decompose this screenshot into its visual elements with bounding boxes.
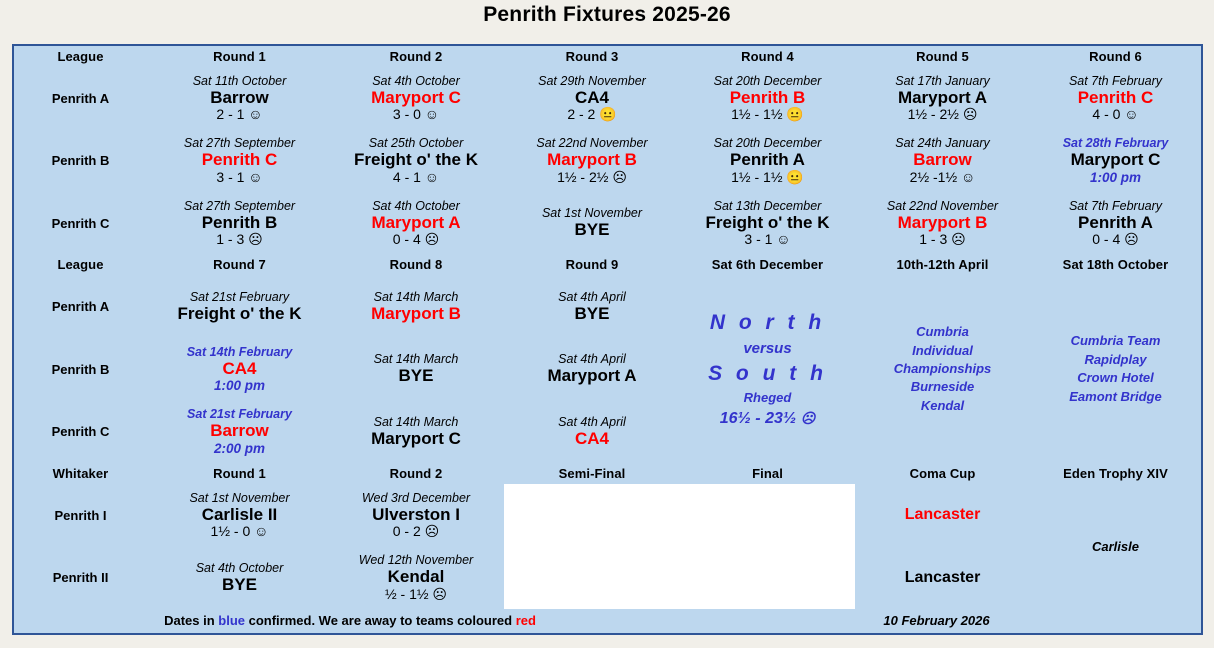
fixture-cell[interactable]: Sat 29th NovemberCA42 - 2 😐: [504, 67, 680, 129]
fixture: Sat 22nd NovemberMaryport B1½ - 2½ ☹: [504, 135, 680, 186]
fixture-cell[interactable]: Sat 4th OctoberBYE: [151, 546, 328, 608]
north-south-score: 16½ - 23½ ☹: [680, 408, 855, 431]
fixture-opponent: Maryport C: [330, 88, 502, 108]
fixture-score: ½ - 1½ ☹: [330, 587, 502, 603]
fixture-opponent: Barrow: [153, 421, 326, 441]
fixture-score: 2 - 2 😐: [506, 107, 678, 123]
fixture-score: 1½ - 0 ☺: [153, 524, 326, 540]
whitaker-header-whitaker: Whitaker: [14, 463, 147, 484]
individual-champs-line-5: Kendal: [855, 397, 1030, 415]
fixture-score: 1 - 3 ☹: [857, 232, 1028, 248]
result-loss-icon: ☹: [801, 410, 816, 426]
fixture-time: 1:00 pm: [1032, 170, 1199, 185]
fixture-date: Wed 3rd December: [330, 491, 502, 505]
whitaker-header-round-2: Round 2: [328, 463, 504, 484]
fixture-date: Sat 14th March: [330, 352, 502, 366]
league2-header-round-9: Round 9: [504, 254, 680, 275]
legend-blue-word: blue: [218, 613, 245, 628]
fixture-date: Sat 21st February: [153, 290, 326, 304]
fixture-date: Sat 24th January: [857, 136, 1028, 150]
fixture-cell[interactable]: Sat 22nd NovemberMaryport B1½ - 2½ ☹: [504, 130, 680, 192]
result-loss-icon: ☹: [612, 169, 627, 185]
league1-header-round-6: Round 6: [1030, 46, 1201, 67]
result-win-icon: ☺: [425, 169, 439, 185]
result-loss-icon: ☹: [432, 586, 447, 602]
fixture-cell[interactable]: Sat 4th AprilBYE: [504, 276, 680, 338]
rapidplay-line-2: Rapidplay: [1030, 351, 1201, 369]
fixtures-page: Penrith Fixtures 2025-26 LeagueRound 1Ro…: [0, 0, 1214, 648]
table-row: Penrith ASat 21st FebruaryFreight o' the…: [14, 276, 1201, 338]
fixtures-grid: LeagueRound 1Round 2Round 3Round 4Round …: [14, 46, 1201, 633]
fixture-opponent: Maryport A: [330, 213, 502, 233]
fixture: Sat 20th DecemberPenrith A1½ - 1½ 😐: [680, 135, 855, 186]
fixture-date: Sat 1st November: [506, 206, 678, 220]
fixture-date: Sat 13th December: [682, 199, 853, 213]
result-loss-icon: ☹: [425, 231, 440, 247]
fixture-opponent: Penrith B: [153, 213, 326, 233]
fixture-date: Sat 22nd November: [506, 136, 678, 150]
fixture-date: Sat 7th February: [1032, 74, 1199, 88]
fixture-score: 0 - 4 ☹: [330, 232, 502, 248]
fixture-opponent: Maryport A: [506, 366, 678, 386]
fixture-opponent: Freight o' the K: [682, 213, 853, 233]
fixture-cell[interactable]: Sat 4th AprilMaryport A: [504, 338, 680, 400]
fixture-opponent: Penrith A: [1032, 213, 1199, 233]
league2-header-row: LeagueRound 7Round 8Round 9Sat 6th Decem…: [14, 254, 1201, 275]
fixture-cell[interactable]: Sat 20th DecemberPenrith B1½ - 1½ 😐: [680, 67, 855, 129]
fixture-date: Sat 1st November: [153, 491, 326, 505]
result-win-icon: ☺: [248, 169, 262, 185]
fixture: Sat 17th JanuaryMaryport A1½ - 2½ ☹: [855, 73, 1030, 124]
result-loss-icon: ☹: [951, 231, 966, 247]
fixture: Sat 1st NovemberCarlisle II1½ - 0 ☺: [151, 490, 328, 541]
fixture-opponent: Kendal: [330, 567, 502, 587]
league1-header-round-2: Round 2: [328, 46, 504, 67]
fixture-opponent: BYE: [506, 220, 678, 240]
fixture-opponent: Maryport A: [857, 88, 1028, 108]
fixture: Sat 25th OctoberFreight o' the K4 - 1 ☺: [328, 135, 504, 186]
fixture-score: 4 - 0 ☺: [1032, 107, 1199, 123]
fixture-opponent: CA4: [153, 359, 326, 379]
fixture: Sat 21st FebruaryBarrow2:00 pm: [151, 406, 328, 457]
fixture: Sat 24th JanuaryBarrow2½ -1½ ☺: [855, 135, 1030, 186]
fixture-opponent: Ulverston I: [330, 505, 502, 525]
fixture-opponent: CA4: [506, 429, 678, 449]
fixture-cell[interactable]: Sat 4th AprilCA4: [504, 400, 680, 462]
fixture-date: Sat 17th January: [857, 74, 1028, 88]
individual-champs-line-4: Burneside: [855, 378, 1030, 396]
fixture-score: 1½ - 2½ ☹: [506, 170, 678, 186]
versus-label: versus: [680, 338, 855, 359]
table-row: Penrith BSat 27th SeptemberPenrith C3 - …: [14, 130, 1201, 192]
fixture-opponent: Barrow: [153, 88, 326, 108]
fixture: Sat 13th DecemberFreight o' the K3 - 1 ☺: [680, 198, 855, 249]
fixture-date: Sat 4th April: [506, 352, 678, 366]
coma-cup-opponent: Lancaster: [905, 569, 981, 586]
fixture: Sat 1st NovemberBYE: [504, 205, 680, 241]
legend-part-1: Dates in: [164, 613, 218, 628]
league1-header-round-4: Round 4: [680, 46, 855, 67]
fixture-opponent: Freight o' the K: [330, 150, 502, 170]
table-row: Penrith ASat 11th OctoberBarrow2 - 1 ☺Sa…: [14, 67, 1201, 129]
rapidplay-line-3: Crown Hotel: [1030, 369, 1201, 387]
fixture-date: Sat 14th February: [153, 345, 326, 359]
result-loss-icon: ☹: [425, 523, 440, 539]
fixture-cell[interactable]: Sat 27th SeptemberPenrith B1 - 3 ☹: [151, 192, 328, 254]
fixture: Sat 28th FebruaryMaryport C1:00 pm: [1030, 135, 1201, 186]
fixture-date: Sat 28th February: [1032, 136, 1199, 150]
fixture-cell[interactable]: Sat 14th MarchMaryport C: [328, 400, 504, 462]
team-label-penrith-ii: Penrith II: [14, 546, 147, 608]
fixture-opponent: BYE: [506, 304, 678, 324]
table-row: Penrith IISat 4th OctoberBYEWed 12th Nov…: [14, 546, 1201, 608]
fixture-date: Sat 4th October: [153, 561, 326, 575]
team-label-penrith-b: Penrith B: [14, 338, 147, 400]
fixture-date: Sat 4th April: [506, 290, 678, 304]
league1-header-round-3: Round 3: [504, 46, 680, 67]
fixture-cell[interactable]: Sat 17th JanuaryMaryport A1½ - 2½ ☹: [855, 67, 1030, 129]
last-updated-date: 10 February 2026: [680, 609, 1201, 633]
fixture: Sat 22nd NovemberMaryport B1 - 3 ☹: [855, 198, 1030, 249]
fixture-opponent: Freight o' the K: [153, 304, 326, 324]
fixture-score: 0 - 2 ☹: [330, 524, 502, 540]
cumbria-individual-championships-cell[interactable]: CumbriaIndividualChampionshipsBurnesideK…: [855, 276, 1030, 463]
fixture-cell[interactable]: Sat 20th DecemberPenrith A1½ - 1½ 😐: [680, 130, 855, 192]
eden-trophy-cell[interactable]: Carlisle: [1030, 484, 1201, 609]
league2-header-sat-18th-october: Sat 18th October: [1030, 254, 1201, 275]
fixture: Sat 4th OctoberMaryport C3 - 0 ☺: [328, 73, 504, 124]
fixture-score: 3 - 1 ☺: [682, 232, 853, 248]
fixture: Sat 4th AprilMaryport A: [504, 351, 680, 387]
fixtures-table-frame: LeagueRound 1Round 2Round 3Round 4Round …: [12, 44, 1203, 635]
page-title: Penrith Fixtures 2025-26: [0, 0, 1214, 30]
team-label-penrith-i: Penrith I: [14, 484, 147, 546]
result-draw-icon: 😐: [786, 169, 803, 185]
fixture: Sat 4th AprilBYE: [504, 289, 680, 325]
fixture: Sat 29th NovemberCA42 - 2 😐: [504, 73, 680, 124]
legend-part-2: confirmed. We are away to teams coloured: [245, 613, 516, 628]
fixture-cell[interactable]: Sat 21st FebruaryFreight o' the K: [151, 276, 328, 338]
result-win-icon: ☺: [776, 231, 790, 247]
league1-header-row: LeagueRound 1Round 2Round 3Round 4Round …: [14, 46, 1201, 67]
league2-header-league: League: [14, 254, 147, 275]
whitaker-header-eden-trophy-xiv: Eden Trophy XIV: [1030, 463, 1201, 484]
fixture-cell[interactable]: Sat 4th OctoberMaryport C3 - 0 ☺: [328, 67, 504, 129]
whitaker-header-row: WhitakerRound 1Round 2Semi-FinalFinalCom…: [14, 463, 1201, 484]
fixture-opponent: Maryport B: [506, 150, 678, 170]
fixture-date: Sat 4th October: [330, 199, 502, 213]
whitaker-header-coma-cup: Coma Cup: [855, 463, 1030, 484]
coma-cup-cell[interactable]: Lancaster: [855, 484, 1030, 546]
cumbria-team-rapidplay-cell[interactable]: Cumbria TeamRapidplayCrown HotelEamont B…: [1030, 276, 1201, 463]
semi-final-cell[interactable]: [504, 484, 680, 546]
fixture: Sat 20th DecemberPenrith B1½ - 1½ 😐: [680, 73, 855, 124]
fixture: Sat 11th OctoberBarrow2 - 1 ☺: [151, 73, 328, 124]
fixture: Sat 27th SeptemberPenrith C3 - 1 ☺: [151, 135, 328, 186]
league1-header-league: League: [14, 46, 147, 67]
fixture: Sat 7th FebruaryPenrith C4 - 0 ☺: [1030, 73, 1201, 124]
fixture-cell[interactable]: Wed 12th NovemberKendal½ - 1½ ☹: [328, 546, 504, 608]
league1-header-round-1: Round 1: [151, 46, 328, 67]
fixture: Sat 14th FebruaryCA41:00 pm: [151, 344, 328, 395]
individual-champs-line-1: Cumbria: [855, 323, 1030, 341]
fixture-date: Sat 14th March: [330, 290, 502, 304]
fixture: Sat 4th OctoberBYE: [151, 560, 328, 596]
fixture-date: Sat 4th October: [330, 74, 502, 88]
legend-row: Dates in blue confirmed. We are away to …: [14, 609, 1201, 633]
fixture-date: Sat 22nd November: [857, 199, 1028, 213]
fixture-opponent: Maryport B: [857, 213, 1028, 233]
result-draw-icon: 😐: [599, 106, 616, 122]
fixture-cell[interactable]: Sat 14th FebruaryCA41:00 pm: [151, 338, 328, 400]
fixture-opponent: Carlisle II: [153, 505, 326, 525]
fixture-date: Wed 12th November: [330, 553, 502, 567]
fixture-time: 2:00 pm: [153, 441, 326, 456]
fixture-time: 1:00 pm: [153, 378, 326, 393]
final-cell[interactable]: [680, 484, 855, 546]
fixture-score: 1½ - 2½ ☹: [857, 107, 1028, 123]
fixture-cell[interactable]: Sat 28th FebruaryMaryport C1:00 pm: [1030, 130, 1201, 192]
fixture-score: 1½ - 1½ 😐: [682, 107, 853, 123]
final-cell[interactable]: [680, 546, 855, 608]
whitaker-header-semi-final: Semi-Final: [504, 463, 680, 484]
result-draw-icon: 😐: [786, 106, 803, 122]
legend-text: Dates in blue confirmed. We are away to …: [14, 609, 680, 633]
team-label-penrith-a: Penrith A: [14, 276, 147, 338]
fixture-opponent: BYE: [153, 575, 326, 595]
league2-header-10th-12th-april: 10th-12th April: [855, 254, 1030, 275]
league2-header-round-8: Round 8: [328, 254, 504, 275]
fixture-opponent: Maryport C: [330, 429, 502, 449]
fixture-opponent: Maryport C: [1032, 150, 1199, 170]
result-win-icon: ☺: [254, 523, 268, 539]
fixture-score: 1½ - 1½ 😐: [682, 170, 853, 186]
league2-header-sat-6th-december: Sat 6th December: [680, 254, 855, 275]
table-row: Penrith CSat 27th SeptemberPenrith B1 - …: [14, 192, 1201, 254]
team-label-penrith-c: Penrith C: [14, 400, 147, 462]
result-win-icon: ☺: [1124, 106, 1138, 122]
fixture-date: Sat 11th October: [153, 74, 326, 88]
league2-header-round-7: Round 7: [151, 254, 328, 275]
fixture-date: Sat 7th February: [1032, 199, 1199, 213]
fixture-cell[interactable]: Sat 24th JanuaryBarrow2½ -1½ ☺: [855, 130, 1030, 192]
result-loss-icon: ☹: [963, 106, 978, 122]
coma-cup-cell[interactable]: Lancaster: [855, 546, 1030, 608]
table-row: Penrith ISat 1st NovemberCarlisle II1½ -…: [14, 484, 1201, 546]
north-versus-south-cell[interactable]: N o r t hversusS o u t hRheged16½ - 23½ …: [680, 276, 855, 463]
fixture-date: Sat 27th September: [153, 136, 326, 150]
eden-trophy-opponent: Carlisle: [1092, 539, 1139, 554]
fixture-score: 4 - 1 ☺: [330, 170, 502, 186]
whitaker-header-round-1: Round 1: [151, 463, 328, 484]
fixture-score: 2 - 1 ☺: [153, 107, 326, 123]
fixture: Sat 14th MarchBYE: [328, 351, 504, 387]
fixture-cell[interactable]: Sat 11th OctoberBarrow2 - 1 ☺: [151, 67, 328, 129]
rapidplay-line-4: Eamont Bridge: [1030, 388, 1201, 406]
south-label: S o u t h: [680, 359, 855, 389]
fixture-opponent: Penrith A: [682, 150, 853, 170]
result-win-icon: ☺: [961, 169, 975, 185]
team-label-penrith-a: Penrith A: [14, 67, 147, 129]
venue-label: Rheged: [680, 389, 855, 407]
fixture-cell[interactable]: Sat 14th MarchBYE: [328, 338, 504, 400]
result-loss-icon: ☹: [248, 231, 263, 247]
fixture-date: Sat 20th December: [682, 136, 853, 150]
result-win-icon: ☺: [248, 106, 262, 122]
individual-champs-line-2: Individual: [855, 342, 1030, 360]
fixture-cell[interactable]: Sat 21st FebruaryBarrow2:00 pm: [151, 400, 328, 462]
fixture-opponent: Penrith C: [1032, 88, 1199, 108]
fixture-score: 2½ -1½ ☺: [857, 170, 1028, 186]
fixture-date: Sat 20th December: [682, 74, 853, 88]
fixture-cell[interactable]: Sat 13th DecemberFreight o' the K3 - 1 ☺: [680, 192, 855, 254]
result-win-icon: ☺: [425, 106, 439, 122]
fixture-opponent: BYE: [330, 366, 502, 386]
fixture-opponent: Penrith B: [682, 88, 853, 108]
fixture-date: Sat 14th March: [330, 415, 502, 429]
fixture-cell[interactable]: Sat 25th OctoberFreight o' the K4 - 1 ☺: [328, 130, 504, 192]
fixture: Sat 21st FebruaryFreight o' the K: [151, 289, 328, 325]
fixture-date: Sat 4th April: [506, 415, 678, 429]
fixture-opponent: Barrow: [857, 150, 1028, 170]
fixture-score: 0 - 4 ☹: [1032, 232, 1199, 248]
fixture-date: Sat 25th October: [330, 136, 502, 150]
fixture-cell[interactable]: Sat 14th MarchMaryport B: [328, 276, 504, 338]
fixture-score: 3 - 1 ☺: [153, 170, 326, 186]
fixture-cell[interactable]: Wed 3rd DecemberUlverston I0 - 2 ☹: [328, 484, 504, 546]
fixture-opponent: Maryport B: [330, 304, 502, 324]
legend-red-word: red: [516, 613, 536, 628]
fixture-cell[interactable]: Sat 1st NovemberCarlisle II1½ - 0 ☺: [151, 484, 328, 546]
rapidplay-line-1: Cumbria Team: [1030, 332, 1201, 350]
fixture-date: Sat 21st February: [153, 407, 326, 421]
fixture: Sat 4th AprilCA4: [504, 414, 680, 450]
whitaker-header-final: Final: [680, 463, 855, 484]
fixture: Sat 4th OctoberMaryport A0 - 4 ☹: [328, 198, 504, 249]
fixture-cell[interactable]: Sat 4th OctoberMaryport A0 - 4 ☹: [328, 192, 504, 254]
individual-champs-line-3: Championships: [855, 360, 1030, 378]
team-label-penrith-b: Penrith B: [14, 130, 147, 192]
fixture-cell[interactable]: Sat 7th FebruaryPenrith C4 - 0 ☺: [1030, 67, 1201, 129]
fixture-opponent: Penrith C: [153, 150, 326, 170]
fixture-date: Sat 29th November: [506, 74, 678, 88]
fixture-cell[interactable]: Sat 7th FebruaryPenrith A0 - 4 ☹: [1030, 192, 1201, 254]
fixture: Sat 14th MarchMaryport C: [328, 414, 504, 450]
coma-cup-opponent: Lancaster: [905, 506, 981, 523]
fixture: Sat 27th SeptemberPenrith B1 - 3 ☹: [151, 198, 328, 249]
fixture-cell[interactable]: Sat 27th SeptemberPenrith C3 - 1 ☺: [151, 130, 328, 192]
team-label-penrith-c: Penrith C: [14, 192, 147, 254]
fixture-score: 3 - 0 ☺: [330, 107, 502, 123]
fixture: Wed 12th NovemberKendal½ - 1½ ☹: [328, 552, 504, 603]
north-label: N o r t h: [680, 308, 855, 338]
league1-header-round-5: Round 5: [855, 46, 1030, 67]
result-loss-icon: ☹: [1124, 231, 1139, 247]
fixture-cell[interactable]: Sat 22nd NovemberMaryport B1 - 3 ☹: [855, 192, 1030, 254]
fixture: Sat 14th MarchMaryport B: [328, 289, 504, 325]
fixture-date: Sat 27th September: [153, 199, 326, 213]
fixture-cell[interactable]: Sat 1st NovemberBYE: [504, 192, 680, 254]
fixture-score: 1 - 3 ☹: [153, 232, 326, 248]
semi-final-cell[interactable]: [504, 546, 680, 608]
fixture: Sat 7th FebruaryPenrith A0 - 4 ☹: [1030, 198, 1201, 249]
fixture: Wed 3rd DecemberUlverston I0 - 2 ☹: [328, 490, 504, 541]
fixture-opponent: CA4: [506, 88, 678, 108]
